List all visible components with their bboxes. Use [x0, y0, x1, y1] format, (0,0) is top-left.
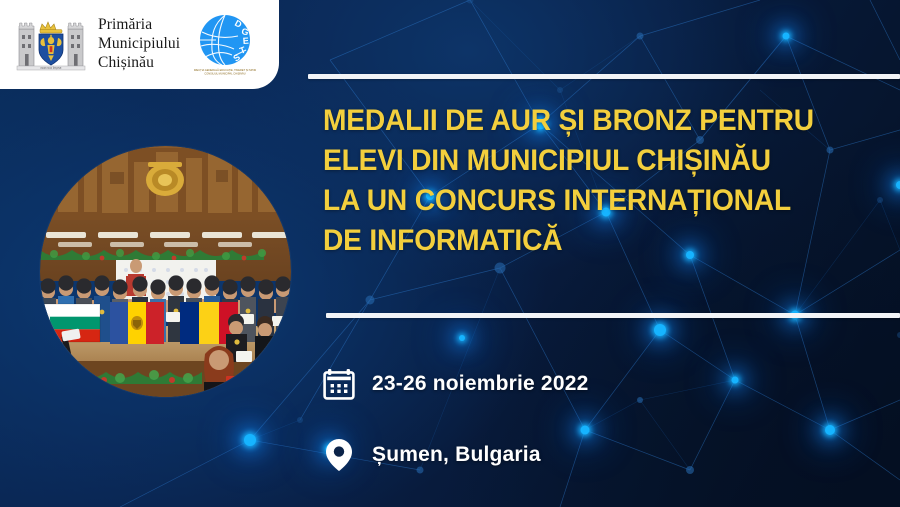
- svg-text:CONSILIUL MUNICIPAL CHIȘINĂU: CONSILIUL MUNICIPAL CHIȘINĂU: [205, 71, 246, 75]
- network-node: [459, 335, 465, 341]
- svg-text:PRIN NOI ÎNȘINE: PRIN NOI ÎNȘINE: [40, 67, 61, 70]
- network-node: [896, 181, 900, 189]
- calendar-icon: [322, 367, 356, 401]
- organization-name: Primăria Municipiului Chișinău: [98, 16, 180, 73]
- title-line-3: LA UN CONCURS INTERNAȚIONAL: [323, 181, 863, 221]
- network-node: [637, 33, 644, 40]
- svg-text:E: E: [243, 35, 250, 45]
- event-date-row: 23-26 noiembrie 2022: [322, 367, 588, 401]
- network-node: [825, 425, 835, 435]
- network-node: [654, 324, 666, 336]
- organization-line-2: Municipiului: [98, 35, 180, 54]
- organization-header-panel: PRIN NOI ÎNȘINE Primăria Municipiului Ch…: [0, 0, 279, 89]
- organization-line-1: Primăria: [98, 16, 180, 35]
- event-location-text: Șumen, Bulgaria: [372, 443, 541, 467]
- network-node: [686, 466, 694, 474]
- organization-line-3: Chișinău: [98, 54, 180, 73]
- dgets-globe-logo-icon: D G E T S DIRECȚIA GENERALĂ EDUCAȚIE, TI…: [194, 12, 256, 78]
- group-photo-students-with-flags: [40, 146, 291, 397]
- map-pin-icon: [322, 437, 356, 473]
- title-line-1: MEDALII DE AUR ȘI BRONZ PENTRU: [323, 101, 863, 141]
- network-node: [637, 397, 643, 403]
- event-date-text: 23-26 noiembrie 2022: [372, 372, 588, 396]
- network-node: [557, 87, 563, 93]
- network-node: [297, 417, 303, 423]
- network-node: [495, 263, 506, 274]
- network-node: [244, 434, 256, 446]
- network-node: [366, 296, 375, 305]
- divider-line-bottom: [326, 313, 900, 318]
- title-line-4: DE INFORMATICĂ: [323, 221, 863, 261]
- network-node: [783, 33, 790, 40]
- event-announcement-banner: PRIN NOI ÎNȘINE Primăria Municipiului Ch…: [0, 0, 900, 507]
- chisinau-coat-of-arms-icon: PRIN NOI ÎNȘINE: [14, 16, 88, 74]
- network-node: [581, 426, 590, 435]
- flag-moldova: [110, 302, 164, 344]
- svg-text:DIRECȚIA GENERALĂ EDUCAȚIE, TI: DIRECȚIA GENERALĂ EDUCAȚIE, TINERET ȘI S…: [194, 68, 256, 72]
- group-photo-illustration: [40, 146, 291, 397]
- event-location-row: Șumen, Bulgaria: [322, 437, 541, 473]
- network-node: [732, 377, 739, 384]
- title-line-2: ELEVI DIN MUNICIPIUL CHIȘINĂU: [323, 141, 863, 181]
- divider-line-top: [308, 74, 900, 79]
- network-node: [877, 197, 883, 203]
- page-title: MEDALII DE AUR ȘI BRONZ PENTRU ELEVI DIN…: [323, 101, 863, 261]
